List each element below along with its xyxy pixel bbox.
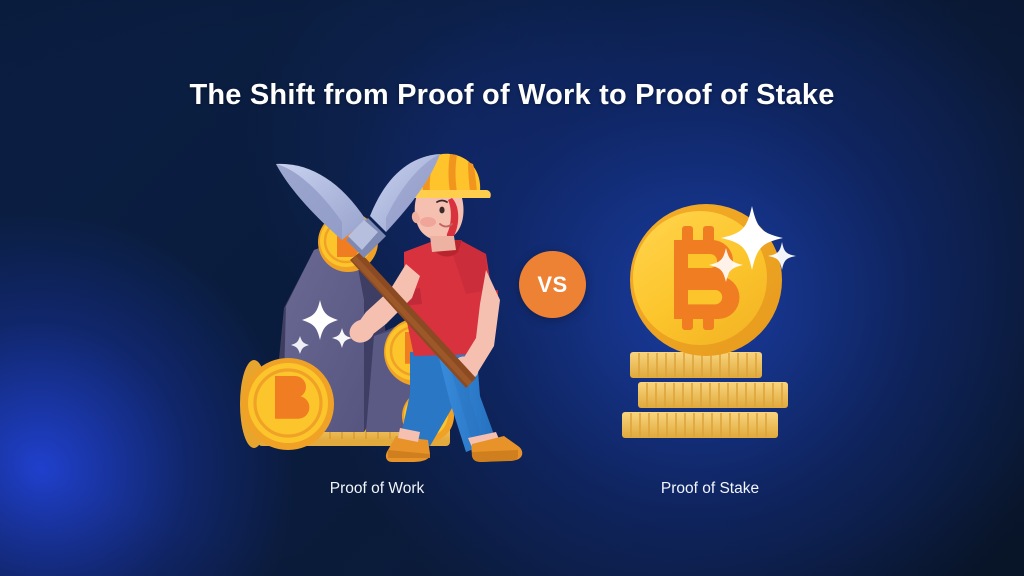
vs-badge: VS <box>519 251 586 318</box>
coin-stack-icon <box>622 352 788 438</box>
caption-proof-of-stake: Proof of Stake <box>606 480 814 498</box>
page-title: The Shift from Proof of Work to Proof of… <box>0 79 1024 112</box>
slide-canvas: The Shift from Proof of Work to Proof of… <box>0 0 1024 576</box>
proof-of-work-illustration <box>214 140 544 470</box>
bitcoin-coin-large-front <box>240 358 334 450</box>
caption-proof-of-work: Proof of Work <box>277 480 477 498</box>
proof-of-stake-illustration <box>608 200 823 460</box>
vs-label: VS <box>537 274 567 296</box>
